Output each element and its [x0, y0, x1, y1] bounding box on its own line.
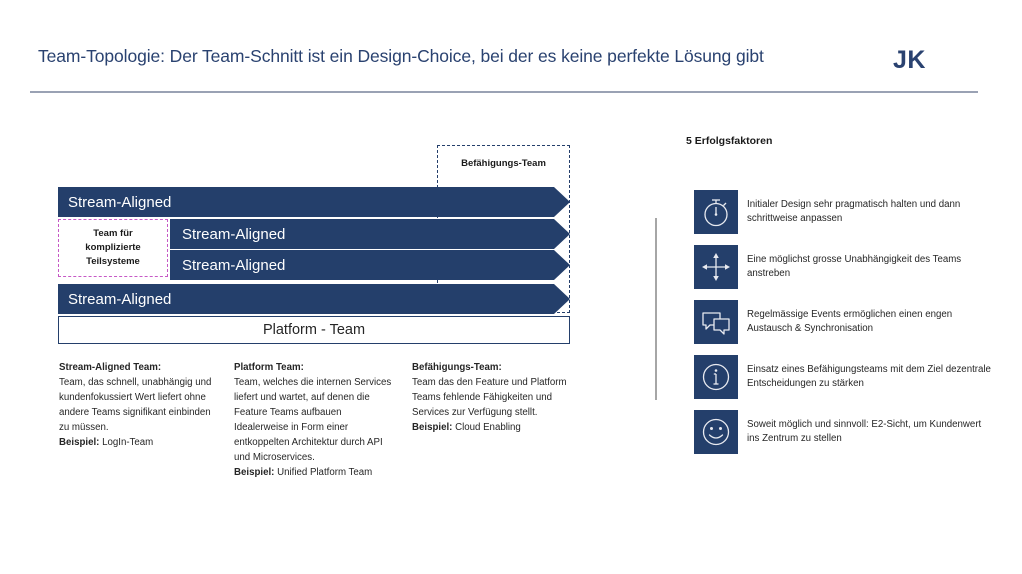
- complicated-subsystem-line-2: komplizierte: [85, 241, 140, 255]
- complicated-subsystem-team-box: Team für komplizierte Teilsysteme: [58, 219, 168, 277]
- success-factor-row: Initialer Design sehr pragmatisch halten…: [694, 190, 994, 234]
- brand-logo: JK: [893, 46, 926, 75]
- caption-example-label: Beispiel:: [234, 467, 274, 478]
- complicated-subsystem-line-3: Teilsysteme: [86, 255, 140, 269]
- success-factor-row: Regelmässige Events ermöglichen einen en…: [694, 300, 994, 344]
- platform-team-label: Platform - Team: [263, 322, 365, 338]
- enabling-team-label: Befähigungs-Team: [437, 158, 570, 169]
- caption-example-value: Cloud Enabling: [455, 422, 521, 433]
- caption-example-value: Unified Platform Team: [277, 467, 372, 478]
- caption-heading: Platform Team:: [234, 360, 394, 375]
- panel-divider: [655, 218, 657, 400]
- complicated-subsystem-line-1: Team für: [93, 227, 132, 241]
- caption-example: Beispiel: Cloud Enabling: [412, 420, 572, 435]
- smiley-face-icon: [694, 410, 738, 454]
- stream-aligned-bar-label: Stream-Aligned: [68, 291, 171, 308]
- caption-example-value: LogIn-Team: [102, 437, 153, 448]
- caption-platform-team: Platform Team: Team, welches die interne…: [234, 360, 394, 480]
- success-factor-row: Einsatz eines Befähigungsteams mit dem Z…: [694, 355, 994, 399]
- success-factor-row: Eine möglichst grosse Unabhängigkeit des…: [694, 245, 994, 289]
- speech-bubbles-icon: [694, 300, 738, 344]
- caption-example-label: Beispiel:: [59, 437, 99, 448]
- success-factor-text: Einsatz eines Befähigungsteams mit dem Z…: [747, 363, 992, 391]
- stopwatch-icon: [694, 190, 738, 234]
- team-topology-diagram: Stream-Aligned Stream-Aligned Stream-Ali…: [0, 0, 620, 574]
- stream-aligned-bar-label: Stream-Aligned: [182, 226, 285, 243]
- caption-body: Team, das schnell, unabhängig und kunden…: [59, 375, 219, 435]
- caption-body: Team, welches die internen Services lief…: [234, 375, 394, 465]
- stream-aligned-bar-label: Stream-Aligned: [182, 257, 285, 274]
- platform-team-box: Platform - Team: [58, 316, 570, 344]
- caption-body: Team das den Feature und Platform Teams …: [412, 375, 572, 420]
- success-factor-text: Regelmässige Events ermöglichen einen en…: [747, 308, 992, 336]
- caption-enabling-team: Befähigungs-Team: Team das den Feature u…: [412, 360, 572, 435]
- four-way-arrows-icon: [694, 245, 738, 289]
- caption-heading: Stream-Aligned Team:: [59, 360, 219, 375]
- success-factor-text: Initialer Design sehr pragmatisch halten…: [747, 198, 992, 226]
- caption-stream-aligned-team: Stream-Aligned Team: Team, das schnell, …: [59, 360, 219, 450]
- enabling-team-box: [437, 145, 570, 313]
- caption-example-label: Beispiel:: [412, 422, 452, 433]
- caption-example: Beispiel: LogIn-Team: [59, 435, 219, 450]
- caption-heading: Befähigungs-Team:: [412, 360, 572, 375]
- success-factor-text: Soweit möglich und sinnvoll: E2-Sicht, u…: [747, 418, 992, 446]
- info-circle-icon: [694, 355, 738, 399]
- success-factor-text: Eine möglichst grosse Unabhängigkeit des…: [747, 253, 992, 281]
- stream-aligned-bar-label: Stream-Aligned: [68, 194, 171, 211]
- success-factor-row: Soweit möglich und sinnvoll: E2-Sicht, u…: [694, 410, 994, 454]
- success-factors-title: 5 Erfolgsfaktoren: [686, 135, 772, 147]
- caption-example: Beispiel: Unified Platform Team: [234, 465, 394, 480]
